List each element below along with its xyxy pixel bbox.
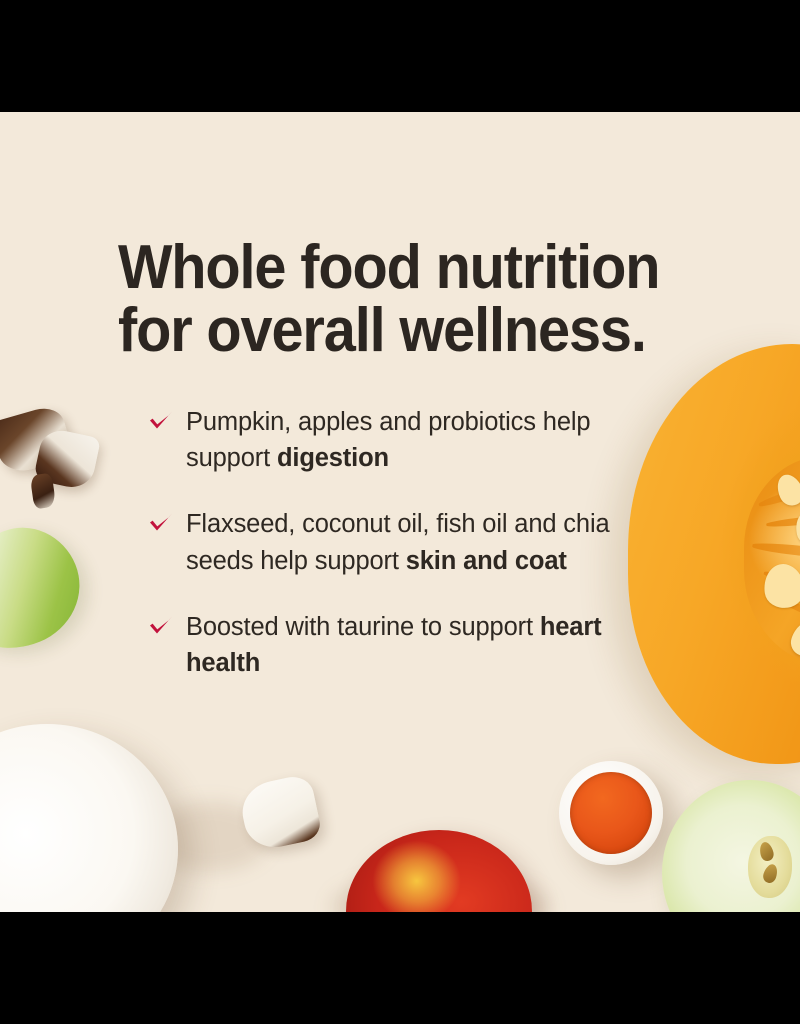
list-item: Pumpkin, apples and probiotics help supp… [148,404,668,476]
headline-line-1: Whole food nutrition [118,233,659,302]
content-canvas: Whole food nutrition for overall wellnes… [0,112,800,912]
pumpkin-seed-cavity [744,456,800,666]
coconut-husk-rim [0,724,178,912]
letterbox-bar-bottom [0,912,800,1024]
red-apple-image [346,830,532,912]
list-item: Boosted with taurine to support heart he… [148,609,668,681]
apple-core [748,836,792,898]
coconut-half-image [0,724,178,912]
list-item: Flaxseed, coconut oil, fish oil and chia… [148,506,668,578]
benefits-list: Pumpkin, apples and probiotics help supp… [148,404,668,681]
checkmark-icon [148,410,174,432]
oil-surface [570,772,652,854]
green-apple-wedge-image [0,511,97,665]
ad-banner: Whole food nutrition for overall wellnes… [0,0,800,1024]
letterbox-bar-top [0,0,800,112]
checkmark-icon [148,512,174,534]
page-headline: Whole food nutrition for overall wellnes… [118,236,676,364]
list-item-emphasis: skin and coat [406,547,567,575]
green-apple-half-image [662,780,800,912]
list-item-text: Boosted with taurine to support [186,613,540,641]
checkmark-icon [148,615,174,637]
headline-line-2: for overall wellness. [118,299,676,363]
oil-bowl-image [559,761,663,865]
list-item-emphasis: digestion [277,444,389,472]
